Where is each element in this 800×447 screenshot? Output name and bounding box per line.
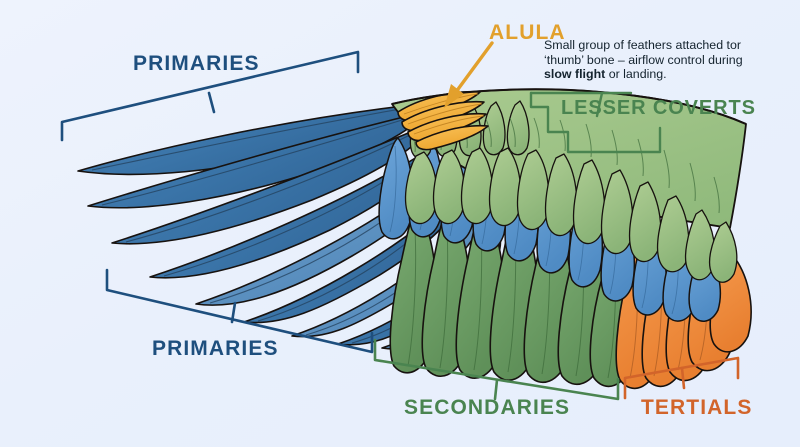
alula-note-part2: or landing.	[605, 67, 666, 81]
wing-anatomy-diagram: PRIMARIES PRIMARIES ALULA LESSER COVERTS…	[0, 0, 800, 447]
alula-note-emphasis: slow flight	[544, 67, 605, 81]
alula-note-part1: Small group of feathers attached tor ‘th…	[544, 38, 743, 67]
label-primaries-bottom: PRIMARIES	[152, 337, 279, 361]
label-secondaries: SECONDARIES	[404, 396, 570, 420]
alula-description-text: Small group of feathers attached tor ‘th…	[544, 38, 744, 82]
label-tertials: TERTIALS	[641, 396, 752, 420]
label-primaries-top: PRIMARIES	[133, 52, 260, 76]
label-lesser-coverts: LESSER COVERTS	[561, 97, 756, 120]
